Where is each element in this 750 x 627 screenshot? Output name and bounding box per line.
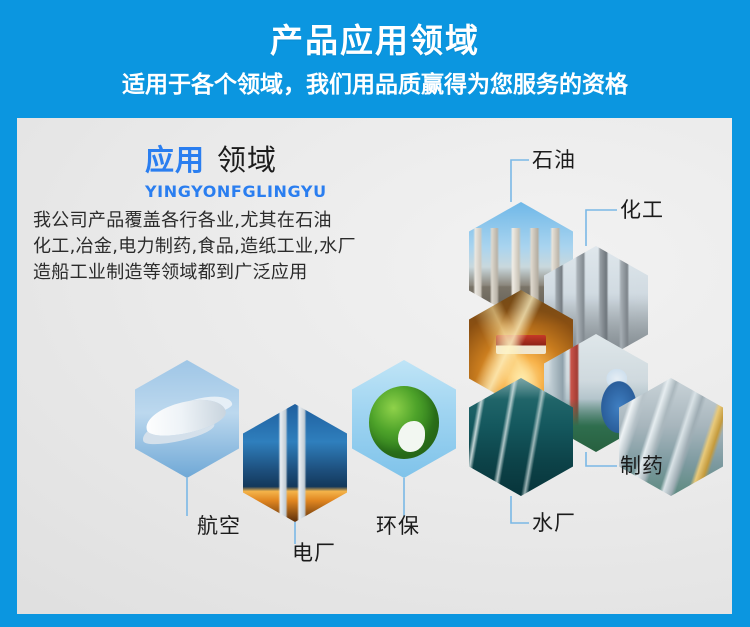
- environmental-globe-hexagon[interactable]: [352, 360, 456, 478]
- label-aviation: 航空: [197, 516, 241, 537]
- banner-header: 产品应用领域 适用于各个领域，我们用品质赢得为您服务的资格: [0, 0, 750, 118]
- label-pharmaceutical: 制药: [620, 456, 664, 477]
- description-line: 我公司产品覆盖各行各业,尤其在石油: [33, 208, 453, 234]
- heading-pinyin: YINGYONFGLINGYU: [145, 184, 475, 200]
- power-plant-image: [243, 404, 347, 522]
- connector-pharma: [586, 452, 617, 466]
- description-text: 我公司产品覆盖各行各业,尤其在石油 化工,冶金,电力制药,食品,造纸工业,水厂 …: [33, 208, 453, 286]
- connector-oil: [511, 160, 529, 202]
- label-power-plant: 电厂: [292, 543, 336, 564]
- description-line: 化工,冶金,电力制药,食品,造纸工业,水厂: [33, 234, 453, 260]
- heading-word-blue: 应用: [145, 143, 205, 177]
- aviation-aircraft-image: [135, 360, 239, 478]
- label-environmental: 环保: [376, 516, 420, 537]
- label-petroleum: 石油: [532, 150, 576, 171]
- page-title: 产品应用领域: [270, 24, 480, 57]
- section-heading-row: 应用领域: [145, 146, 475, 175]
- section-heading: 应用领域 YINGYONFGLINGYU: [145, 146, 475, 200]
- product-application-banner: 产品应用领域 适用于各个领域，我们用品质赢得为您服务的资格 应用领域 YINGY…: [0, 0, 750, 627]
- environmental-globe-image: [352, 360, 456, 478]
- heading-word-black: 领域: [217, 143, 277, 177]
- connector-water: [511, 496, 529, 523]
- description-line: 造船工业制造等领域都到广泛应用: [33, 260, 453, 286]
- aviation-aircraft-hexagon[interactable]: [135, 360, 239, 478]
- label-water-plant: 水厂: [532, 513, 576, 534]
- label-chemical: 化工: [620, 200, 664, 221]
- power-plant-hexagon[interactable]: [243, 404, 347, 522]
- connector-chem: [586, 210, 617, 246]
- content-panel: 应用领域 YINGYONFGLINGYU 我公司产品覆盖各行各业,尤其在石油 化…: [17, 118, 732, 614]
- page-subtitle: 适用于各个领域，我们用品质赢得为您服务的资格: [122, 74, 628, 97]
